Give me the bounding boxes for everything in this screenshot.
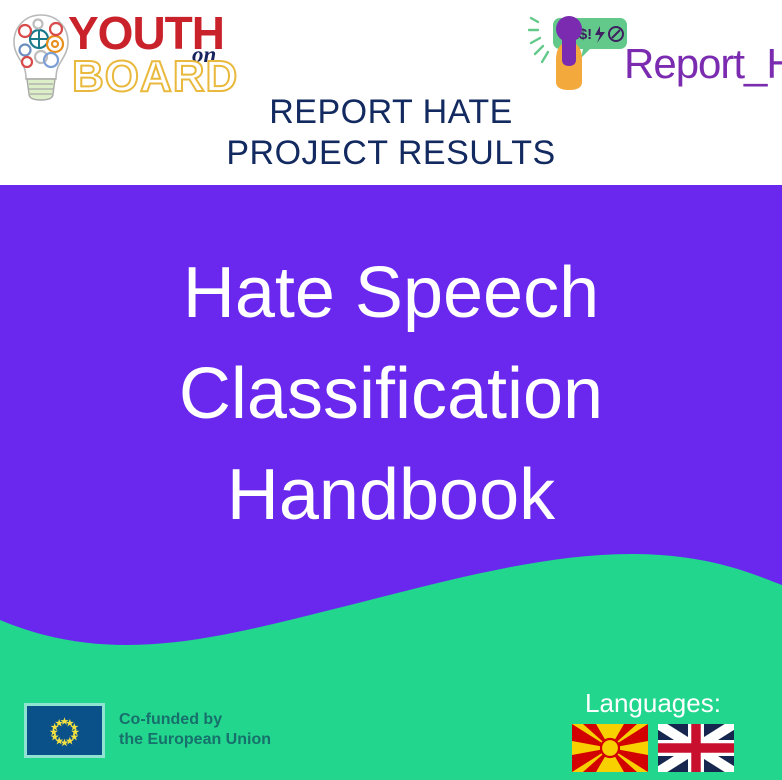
languages-flag-list: [572, 724, 734, 772]
youth-on-board-logo: YOUTH on BOARD: [6, 8, 258, 103]
lightbulb-gears-icon: [8, 12, 74, 102]
european-union-flag-icon: [24, 703, 105, 758]
eu-cofunding-block: Co-funded by the European Union: [24, 701, 271, 759]
header-title: REPORT HATE PROJECT RESULTS: [0, 92, 782, 174]
report-hate-wordmark: Report_Hate: [624, 42, 782, 86]
united-kingdom-flag-icon: [658, 724, 734, 772]
header-band: YOUTH on BOARD &$!: [0, 0, 782, 185]
page-title-line-1: Hate Speech: [0, 243, 782, 344]
page-title-line-2: Classification: [0, 344, 782, 445]
languages-block: Languages:: [572, 688, 734, 772]
page-title: Hate Speech Classification Handbook: [0, 243, 782, 546]
eu-text-line-2: the European Union: [119, 730, 271, 750]
poster-canvas: YOUTH on BOARD &$!: [0, 0, 782, 780]
youth-on-board-wordmark: YOUTH on BOARD: [68, 10, 258, 102]
eu-text-line-1: Co-funded by: [119, 710, 271, 730]
header-title-line-2: PROJECT RESULTS: [0, 133, 782, 174]
languages-label: Languages:: [572, 688, 734, 718]
eu-cofunding-text: Co-funded by the European Union: [119, 710, 271, 750]
page-title-line-3: Handbook: [0, 445, 782, 546]
north-macedonia-flag-icon: [572, 724, 648, 772]
report-hate-logo: &$! Report_Hate: [528, 12, 778, 100]
header-title-line-1: REPORT HATE: [0, 92, 782, 133]
